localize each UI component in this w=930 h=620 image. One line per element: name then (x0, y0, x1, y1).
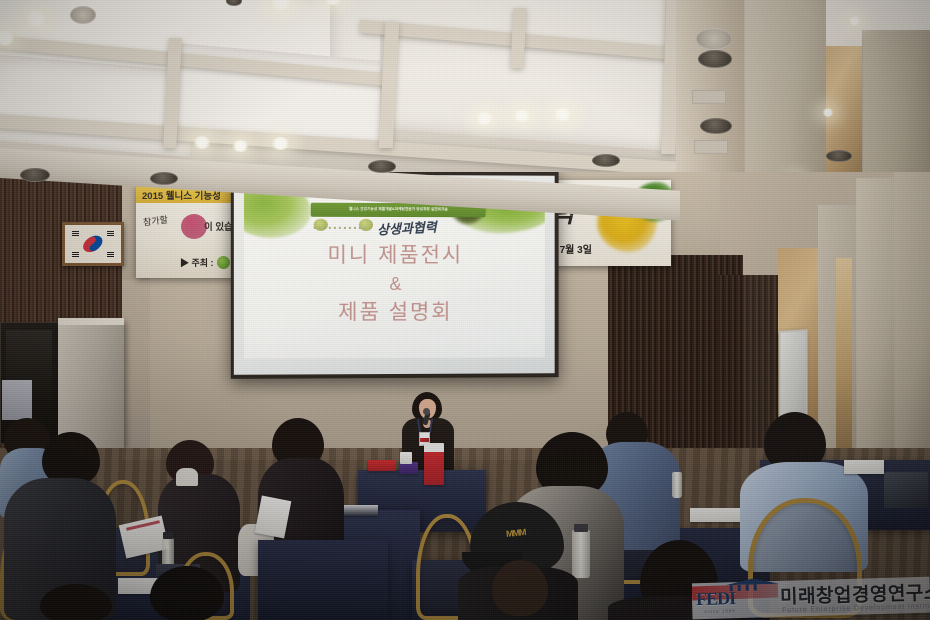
soffit-can-4 (592, 154, 620, 167)
downlight-13 (822, 108, 834, 117)
ceiling-speaker-2 (700, 118, 732, 134)
downlight-8 (474, 112, 495, 125)
ceiling-grille-1 (692, 90, 726, 104)
product-box-red (368, 460, 396, 471)
audience-head-cap-neck (492, 560, 548, 616)
downlight-9 (512, 110, 532, 122)
left-banner-hand-left: 참가할 (142, 213, 168, 229)
flag-face (65, 225, 121, 263)
notepad-4[interactable] (844, 460, 884, 474)
slide-dotted-rule (314, 227, 366, 229)
ceiling (0, 0, 930, 172)
trigram-ri (72, 252, 79, 257)
soffit-can-3 (368, 160, 396, 173)
downlight-5 (192, 136, 212, 149)
ceiling-right-panel-2 (862, 30, 930, 172)
downlight-6 (231, 140, 250, 152)
downlight-1 (24, 10, 48, 27)
watermark-roof-icon (726, 578, 780, 586)
av-rack-paper (2, 380, 32, 420)
water-bottle-3[interactable] (572, 530, 590, 578)
ceiling-vent-1 (696, 28, 732, 50)
seminar-room-photo: 2015 웰니스 기능성 참가할 이 있습니다 ▶ 주최 : 농림 력 ~ 7월… (0, 0, 930, 620)
cap-logo-text: MMM (506, 527, 526, 539)
water-bottle-2[interactable] (672, 472, 682, 498)
ceiling-speaker-1 (698, 50, 732, 68)
microphone-head (423, 408, 430, 415)
watermark-established: since 1999 (704, 608, 735, 614)
slide-ribbon-text: 웰니스 건강기능성 제품개발&마케팅전문가 양성과정 실전워크숍 (349, 207, 448, 212)
audience-head-10 (150, 566, 224, 620)
host-logo-icon (217, 256, 230, 269)
product-box-white (400, 452, 412, 464)
downlight-12 (848, 16, 861, 26)
trigram-geon (72, 231, 79, 236)
downlight-7 (270, 137, 291, 150)
ceiling-right-panel (744, 0, 826, 172)
soffit-can-1 (20, 168, 50, 182)
taeguk-symbol (80, 232, 106, 256)
ceiling-coffer-3 (0, 53, 190, 157)
slide-title-line-1: 미니 제품전시 (244, 241, 546, 272)
trigram-gam (107, 231, 114, 236)
slide-blob-top-left (244, 190, 311, 237)
audience-collar-3 (176, 468, 198, 486)
ceiling-vent-2 (70, 6, 96, 24)
slide-title-block: 미니 제품전시 & 제품 설명회 (244, 241, 546, 329)
name-badge-accent (420, 438, 429, 442)
trigram-gon (107, 252, 114, 257)
downlight-10 (552, 108, 573, 121)
korean-flag (62, 222, 124, 266)
slide-title-line-3: 제품 설명회 (244, 297, 546, 328)
product-standee-red (424, 443, 444, 485)
soffit-can-5 (826, 150, 852, 162)
slide-seal-right (359, 219, 373, 231)
presentation-slide: 웰니스 건강기능성 제품개발&마케팅전문가 양성과정 실전워크숍 상생과협력 미… (244, 190, 546, 358)
host-label: ▶ 주최 : (180, 256, 214, 269)
wall-light-slot (836, 258, 852, 458)
water-bottle-3-cap (574, 524, 588, 532)
audience-table-mid (258, 540, 388, 620)
slide-title-line-2: & (244, 271, 546, 297)
water-bottle-1-cap (163, 532, 173, 539)
soffit-can-2 (150, 172, 178, 185)
speaker-cabinet (58, 320, 124, 448)
wall-panel-right-c (894, 165, 930, 485)
slide-script-headline: 상생과협력 (377, 216, 438, 238)
ceiling-grille-2 (694, 140, 728, 154)
slide-seal-left (314, 219, 328, 231)
watermark-logo: FEDI since 1999 (696, 578, 779, 616)
wall-panel-right-b (856, 178, 896, 478)
watermark-logo-text: FEDI (696, 587, 779, 610)
speaker-cabinet-top (58, 318, 124, 325)
black-case-3[interactable] (884, 472, 928, 508)
watermark: FEDI since 1999 미래창업경영연구소 Future Enterpr… (692, 572, 930, 620)
